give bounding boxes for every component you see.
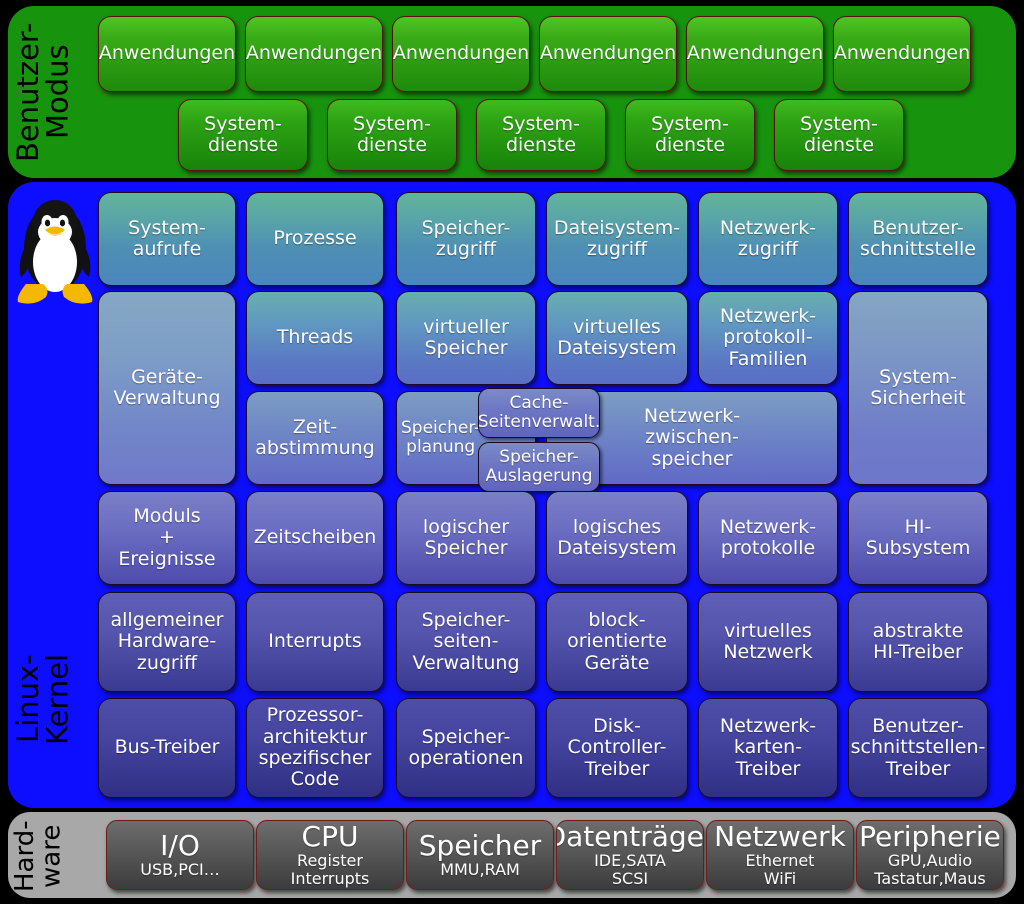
kernel-memory-page-management[interactable]: Speicher- seiten- Verwaltung — [396, 592, 536, 692]
diagram-canvas: Benutzer- Modus Anwendungen Anwendungen … — [0, 0, 1024, 904]
kernel-logical-memory[interactable]: logischer Speicher — [396, 491, 536, 585]
hw-storage[interactable]: Datenträger IDE,SATA SCSI — [556, 820, 704, 890]
kernel-memory-access[interactable]: Speicher- zugriff — [396, 192, 536, 286]
kernel-network-access[interactable]: Netzwerk- zugriff — [698, 192, 838, 286]
kernel-modules-events[interactable]: Moduls + Ereignisse — [98, 491, 236, 585]
hw-io[interactable]: I/O USB,PCI… — [106, 820, 254, 890]
system-service-box-1[interactable]: System- dienste — [178, 99, 308, 171]
kernel-network-protocol-families[interactable]: Netzwerk- protokoll- Familien — [698, 291, 838, 385]
kernel-threads[interactable]: Threads — [246, 291, 384, 385]
hw-network-sub: Ethernet WiFi — [746, 852, 815, 888]
app-box-3[interactable]: Anwendungen — [392, 16, 530, 92]
kernel-disk-controller-driver[interactable]: Disk-Controller- Treiber — [546, 698, 688, 798]
hw-peripherals-sub: GPU,Audio Tastatur,Maus — [874, 852, 986, 888]
user-mode-label: Benutzer- Modus — [14, 10, 92, 174]
hw-memory-sub: MMU,RAM — [440, 861, 520, 879]
hw-io-sub: USB,PCI… — [140, 861, 219, 879]
kernel-abstract-hi-driver[interactable]: abstrakte HI-Treiber — [848, 592, 988, 692]
system-service-box-4[interactable]: System- dienste — [625, 99, 755, 171]
hw-cpu-sub: Register Interrupts — [291, 852, 370, 888]
kernel-logical-filesystem[interactable]: logisches Dateisystem — [546, 491, 688, 585]
app-box-4[interactable]: Anwendungen — [539, 16, 677, 92]
kernel-hi-subsystem[interactable]: HI- Subsystem — [848, 491, 988, 585]
hw-peripherals-title: Peripherie — [859, 823, 1001, 851]
hw-storage-sub: IDE,SATA SCSI — [594, 852, 666, 888]
kernel-user-interface[interactable]: Benutzer- schnittstelle — [848, 192, 988, 286]
kernel-virtual-network[interactable]: virtuelles Netzwerk — [698, 592, 838, 692]
hw-io-title: I/O — [160, 832, 200, 860]
hw-peripherals[interactable]: Peripherie GPU,Audio Tastatur,Maus — [856, 820, 1004, 890]
kernel-network-card-driver[interactable]: Netzwerk- karten- Treiber — [698, 698, 838, 798]
kernel-user-interface-driver[interactable]: Benutzer- schnittstellen- Treiber — [848, 698, 988, 798]
hw-storage-title: Datenträger — [556, 823, 704, 851]
kernel-time-slices[interactable]: Zeitscheiben — [246, 491, 384, 585]
system-service-box-5[interactable]: System- dienste — [774, 99, 904, 171]
hw-network-title: Netzwerk — [714, 823, 846, 851]
kernel-virtual-memory[interactable]: virtueller Speicher — [396, 291, 536, 385]
kernel-generic-hardware-access[interactable]: allgemeiner Hardware- zugriff — [98, 592, 236, 692]
hardware-label: Hard- ware — [12, 818, 90, 894]
kernel-device-management[interactable]: Geräte- Verwaltung — [98, 291, 236, 485]
kernel-network-protocols[interactable]: Netzwerk- protokolle — [698, 491, 838, 585]
kernel-label: Linux- Kernel — [14, 596, 92, 802]
app-box-5[interactable]: Anwendungen — [686, 16, 824, 92]
kernel-processor-arch-code[interactable]: Prozessor- architektur spezifischer Code — [246, 698, 384, 798]
app-box-6[interactable]: Anwendungen — [833, 16, 971, 92]
kernel-processes[interactable]: Prozesse — [246, 192, 384, 286]
kernel-filesystem-access[interactable]: Dateisystem- zugriff — [546, 192, 688, 286]
kernel-syscalls[interactable]: System- aufrufe — [98, 192, 236, 286]
kernel-virtual-filesystem[interactable]: virtuelles Dateisystem — [546, 291, 688, 385]
kernel-block-devices[interactable]: block- orientierte Geräte — [546, 592, 688, 692]
kernel-time-coordination[interactable]: Zeit- abstimmung — [246, 391, 384, 485]
kernel-memory-swapping[interactable]: Speicher- Auslagerung — [478, 442, 600, 492]
kernel-memory-operations[interactable]: Speicher- operationen — [396, 698, 536, 798]
system-service-box-3[interactable]: System- dienste — [476, 99, 606, 171]
kernel-cache-page-management[interactable]: Cache- Seitenverwalt. — [478, 388, 600, 438]
app-box-2[interactable]: Anwendungen — [245, 16, 383, 92]
tux-penguin-icon — [12, 192, 98, 308]
hw-memory[interactable]: Speicher MMU,RAM — [406, 820, 554, 890]
hw-cpu[interactable]: CPU Register Interrupts — [256, 820, 404, 890]
system-service-box-2[interactable]: System- dienste — [327, 99, 457, 171]
kernel-bus-driver[interactable]: Bus-Treiber — [98, 698, 236, 798]
hw-network[interactable]: Netzwerk Ethernet WiFi — [706, 820, 854, 890]
kernel-system-security[interactable]: System- Sicherheit — [848, 291, 988, 485]
kernel-interrupts[interactable]: Interrupts — [246, 592, 384, 692]
hw-cpu-title: CPU — [302, 823, 359, 851]
app-box-1[interactable]: Anwendungen — [98, 16, 236, 92]
hw-memory-title: Speicher — [419, 832, 541, 860]
